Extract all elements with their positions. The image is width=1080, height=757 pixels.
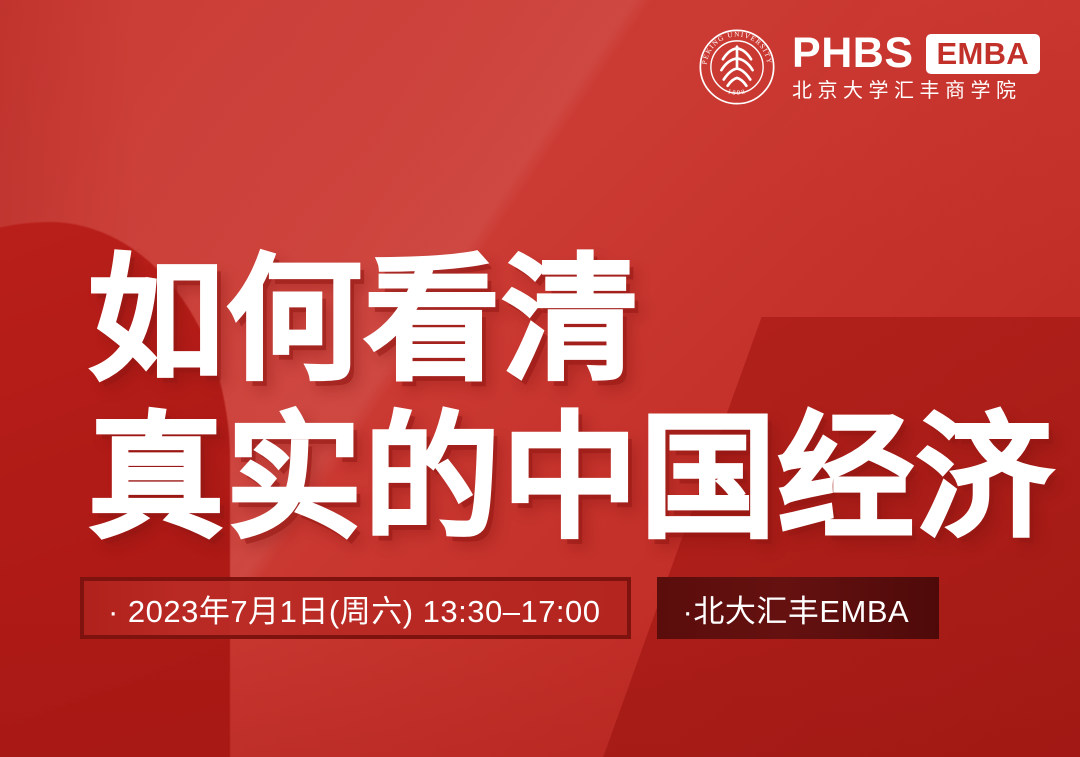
logo-emba-text: EMBA [937, 36, 1029, 71]
headline-line-1: 如何看清 [88, 244, 1028, 396]
event-brand-band: ·北大汇丰EMBA [657, 577, 940, 639]
phbs-emba-logo: PEKING UNIVERSITY 1898 PHBS EMBA [698, 28, 1040, 106]
svg-text:1898: 1898 [727, 88, 747, 97]
event-info-row: · 2023年7月1日(周六) 13:30–17:00 ·北大汇丰EMBA [80, 577, 939, 639]
event-poster: PEKING UNIVERSITY 1898 PHBS EMBA [0, 0, 1080, 757]
event-datetime-band: · 2023年7月1日(周六) 13:30–17:00 [80, 577, 631, 639]
peking-university-seal-icon: PEKING UNIVERSITY 1898 [698, 28, 776, 106]
logo-chinese-name: 北京大学汇丰商学院 [792, 80, 1040, 102]
logo-emba-badge: EMBA [926, 34, 1040, 74]
poster-headline: 如何看清 真实的中国经济 [88, 244, 1028, 555]
logo-primary-row: PHBS EMBA [792, 32, 1040, 75]
logo-phbs-text: PHBS [792, 32, 913, 75]
logo-text-block: PHBS EMBA 北京大学汇丰商学院 [792, 32, 1040, 102]
headline-line-2: 真实的中国经济 [88, 402, 1028, 554]
